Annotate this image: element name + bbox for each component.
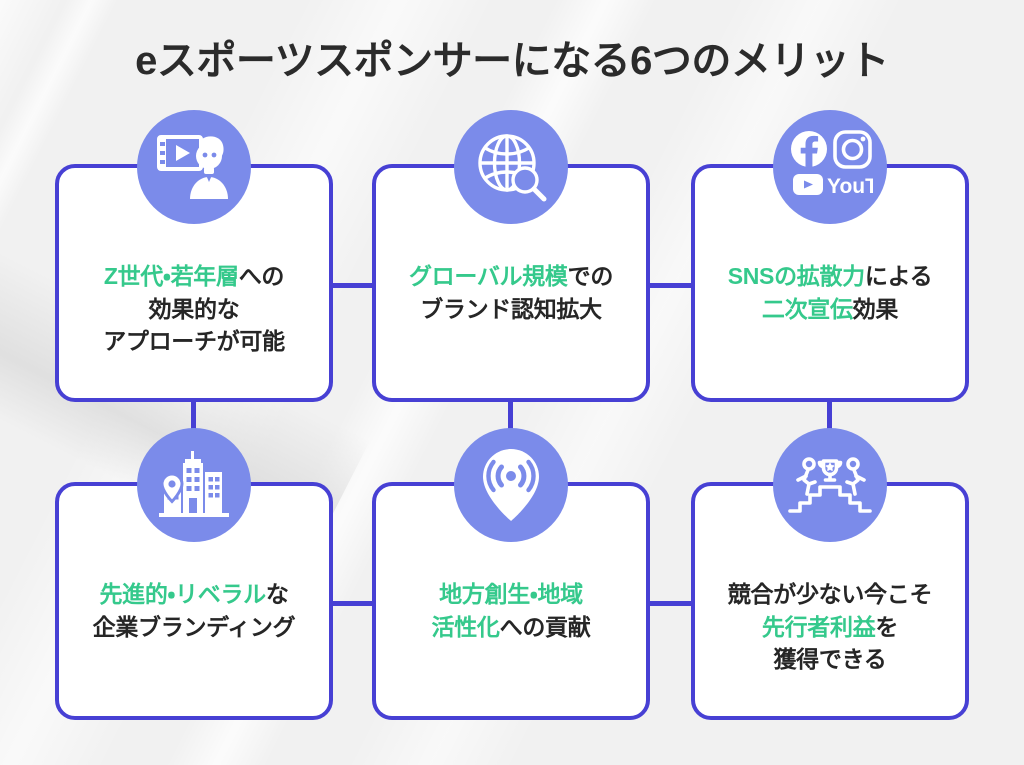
- benefit-text-line: 企業ブランディング: [69, 611, 319, 644]
- highlighted-text: 活性化: [432, 614, 500, 640]
- benefit-card-6-text: 競合が少ない今こそ先行者利益を獲得できる: [705, 578, 955, 676]
- normal-text: への: [239, 263, 284, 289]
- highlighted-text: 地方創生・地域: [439, 581, 583, 607]
- podium-trophy-climbers-icon: [773, 428, 887, 542]
- normal-text: による: [865, 263, 932, 289]
- globe-search-icon: [454, 110, 568, 224]
- benefit-text-line: 先行者利益を: [705, 611, 955, 644]
- normal-text: 獲得できる: [773, 646, 886, 672]
- normal-text: を: [875, 614, 898, 640]
- buildings-location-pin-icon: [137, 428, 251, 542]
- highlighted-text: Z世代・若年層: [104, 263, 239, 289]
- benefit-text-line: 競合が少ない今こそ: [705, 578, 955, 611]
- highlighted-text: 先進的・リベラル: [99, 581, 265, 607]
- normal-text: ブランド認知拡大: [420, 296, 602, 322]
- benefit-text-line: アプローチが可能: [69, 325, 319, 358]
- benefit-card-1-text: Z世代・若年層への効果的なアプローチが可能: [69, 260, 319, 358]
- benefit-text-line: 獲得できる: [705, 643, 955, 676]
- normal-text: 競合が少ない今こそ: [728, 581, 932, 607]
- normal-text: 効果的な: [149, 296, 240, 322]
- highlighted-text: 二次宣伝: [762, 296, 853, 322]
- youtube-wordmark: YouTube: [827, 175, 873, 198]
- location-pin-signal-icon: [454, 428, 568, 542]
- page-title: eスポーツスポンサーになる6つのメリット: [0, 28, 1024, 86]
- highlighted-text: 先行者利益: [762, 614, 876, 640]
- normal-text: な: [266, 581, 289, 607]
- benefit-card-5-text: 地方創生・地域活性化への貢献: [386, 578, 636, 643]
- benefit-card-3-text: SNSの拡散力による二次宣伝効果: [705, 260, 955, 325]
- normal-text: アプローチが可能: [103, 328, 285, 354]
- benefit-text-line: ブランド認知拡大: [386, 293, 636, 326]
- benefit-text-line: SNSの拡散力による: [705, 260, 955, 293]
- benefit-text-line: 地方創生・地域: [386, 578, 636, 611]
- infographic-canvas: eスポーツスポンサーになる6つのメリット Z世代・若年層への効果的なアプローチが…: [0, 0, 1024, 765]
- benefit-text-line: 活性化への貢献: [386, 611, 636, 644]
- benefit-text-line: Z世代・若年層への: [69, 260, 319, 293]
- normal-text: 効果: [853, 296, 898, 322]
- highlighted-text: SNSの拡散力: [728, 263, 865, 289]
- benefit-text-line: 二次宣伝効果: [705, 293, 955, 326]
- normal-text: での: [568, 263, 613, 289]
- benefit-text-line: 効果的な: [69, 293, 319, 326]
- benefit-card-4-text: 先進的・リベラルな企業ブランディング: [69, 578, 319, 643]
- benefit-text-line: グローバル規模での: [386, 260, 636, 293]
- highlighted-text: グローバル規模: [409, 263, 568, 289]
- normal-text: 企業ブランディング: [93, 614, 296, 640]
- benefit-card-2-text: グローバル規模でのブランド認知拡大: [386, 260, 636, 325]
- benefit-text-line: 先進的・リベラルな: [69, 578, 319, 611]
- normal-text: への貢献: [500, 614, 591, 640]
- streamer-monitor-icon: [137, 110, 251, 224]
- social-media-logos-icon: YouTube: [773, 110, 887, 224]
